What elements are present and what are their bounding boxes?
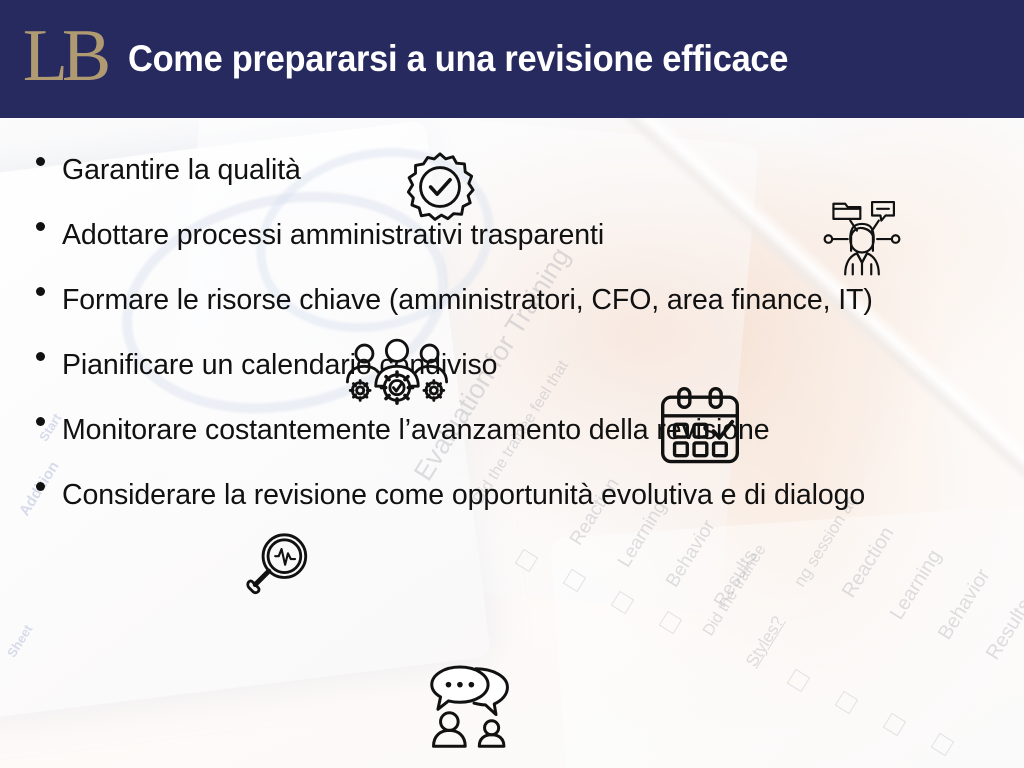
bullet-dot-icon bbox=[36, 222, 45, 231]
list-item: Pianificare un calendario condiviso bbox=[22, 335, 1002, 396]
dialogue-people-icon bbox=[430, 660, 518, 748]
bullet-dot-icon bbox=[36, 417, 45, 426]
bullet-dot-icon bbox=[36, 287, 45, 296]
slide: Evaluation for Training Did the trainee … bbox=[0, 0, 1024, 768]
list-item: Formare le risorse chiave (amministrator… bbox=[22, 270, 1002, 331]
list-item: Monitorare costantemente l’avanzamento d… bbox=[22, 400, 1002, 461]
person-network-icon bbox=[820, 190, 904, 278]
slide-header: LB Come prepararsi a una revisione effic… bbox=[0, 0, 1024, 118]
bullet-text: Monitorare costantemente l’avanzamento d… bbox=[62, 400, 1002, 461]
bullet-dot-icon bbox=[36, 157, 45, 166]
logo-monogram: LB bbox=[23, 19, 106, 99]
bullet-dot-icon bbox=[36, 352, 45, 361]
bullet-text: Pianificare un calendario condiviso bbox=[62, 335, 1002, 396]
calendar-check-icon bbox=[655, 387, 745, 465]
team-gears-icon bbox=[340, 338, 454, 406]
logo: LB bbox=[0, 0, 128, 118]
list-item: Considerare la revisione come opportunit… bbox=[22, 465, 1002, 526]
bullet-dot-icon bbox=[36, 482, 45, 491]
page-title: Come prepararsi a una revisione efficace bbox=[128, 38, 788, 80]
bullet-text: Formare le risorse chiave (amministrator… bbox=[62, 270, 1002, 331]
quality-badge-icon bbox=[404, 151, 476, 223]
magnifier-pulse-icon bbox=[245, 532, 311, 596]
bullet-text: Considerare la revisione come opportunit… bbox=[62, 465, 1002, 526]
